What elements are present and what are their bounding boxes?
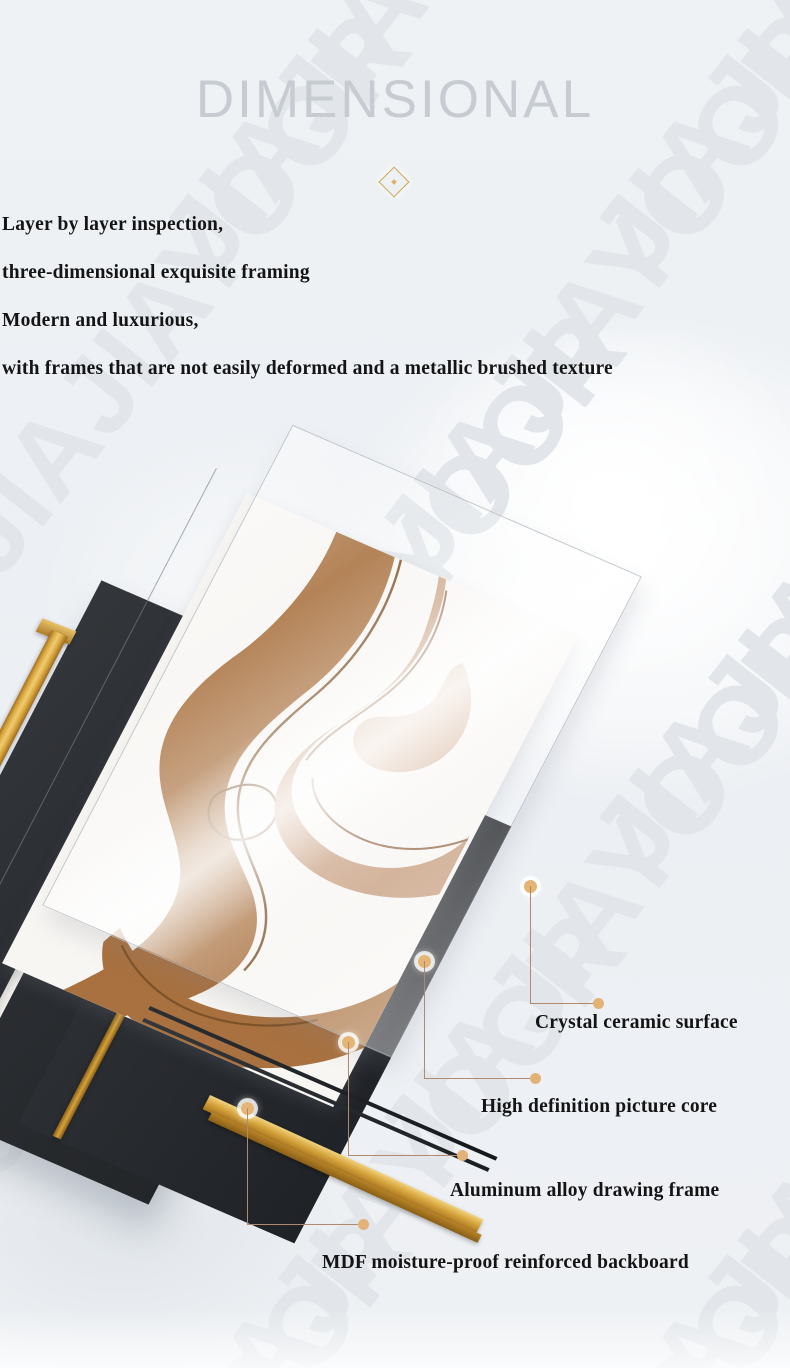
callout-label-crystal-ceramic-surface: Crystal ceramic surface <box>535 1011 738 1035</box>
leader-end-dot <box>593 998 604 1009</box>
page-title: DIMENSIONAL <box>0 72 790 128</box>
leader-end-dot <box>530 1073 541 1084</box>
leader-end-dot <box>457 1150 468 1161</box>
leader-line-horizontal <box>530 1003 598 1004</box>
product-detail-page: JIAJIAYOORJIAJIAYOORJIAJIAYOORJIAJIAYOOR… <box>0 0 790 1368</box>
leader-end-dot <box>358 1219 369 1230</box>
description-line: Modern and luxurious, <box>2 302 788 340</box>
leader-line-vertical <box>247 1108 248 1224</box>
leader-line-vertical <box>348 1042 349 1155</box>
product-exploded-view <box>0 440 700 1240</box>
description-block: Layer by layer inspection, three-dimensi… <box>2 206 788 398</box>
leader-line-horizontal <box>424 1078 536 1079</box>
callout-label-mdf-backboard: MDF moisture-proof reinforced backboard <box>322 1251 689 1275</box>
leader-line-horizontal <box>247 1224 364 1225</box>
description-line: with frames that are not easily deformed… <box>2 350 788 388</box>
callout-label-high-definition-picture-core: High definition picture core <box>481 1095 717 1119</box>
description-line: three-dimensional exquisite framing <box>2 254 788 292</box>
leader-line-vertical <box>424 961 425 1078</box>
bottom-fade <box>0 1308 790 1368</box>
leader-line-vertical <box>530 886 531 1003</box>
description-line: Layer by layer inspection, <box>2 206 788 244</box>
callout-label-aluminum-alloy-drawing-frame: Aluminum alloy drawing frame <box>450 1179 719 1203</box>
leader-line-horizontal <box>348 1155 463 1156</box>
